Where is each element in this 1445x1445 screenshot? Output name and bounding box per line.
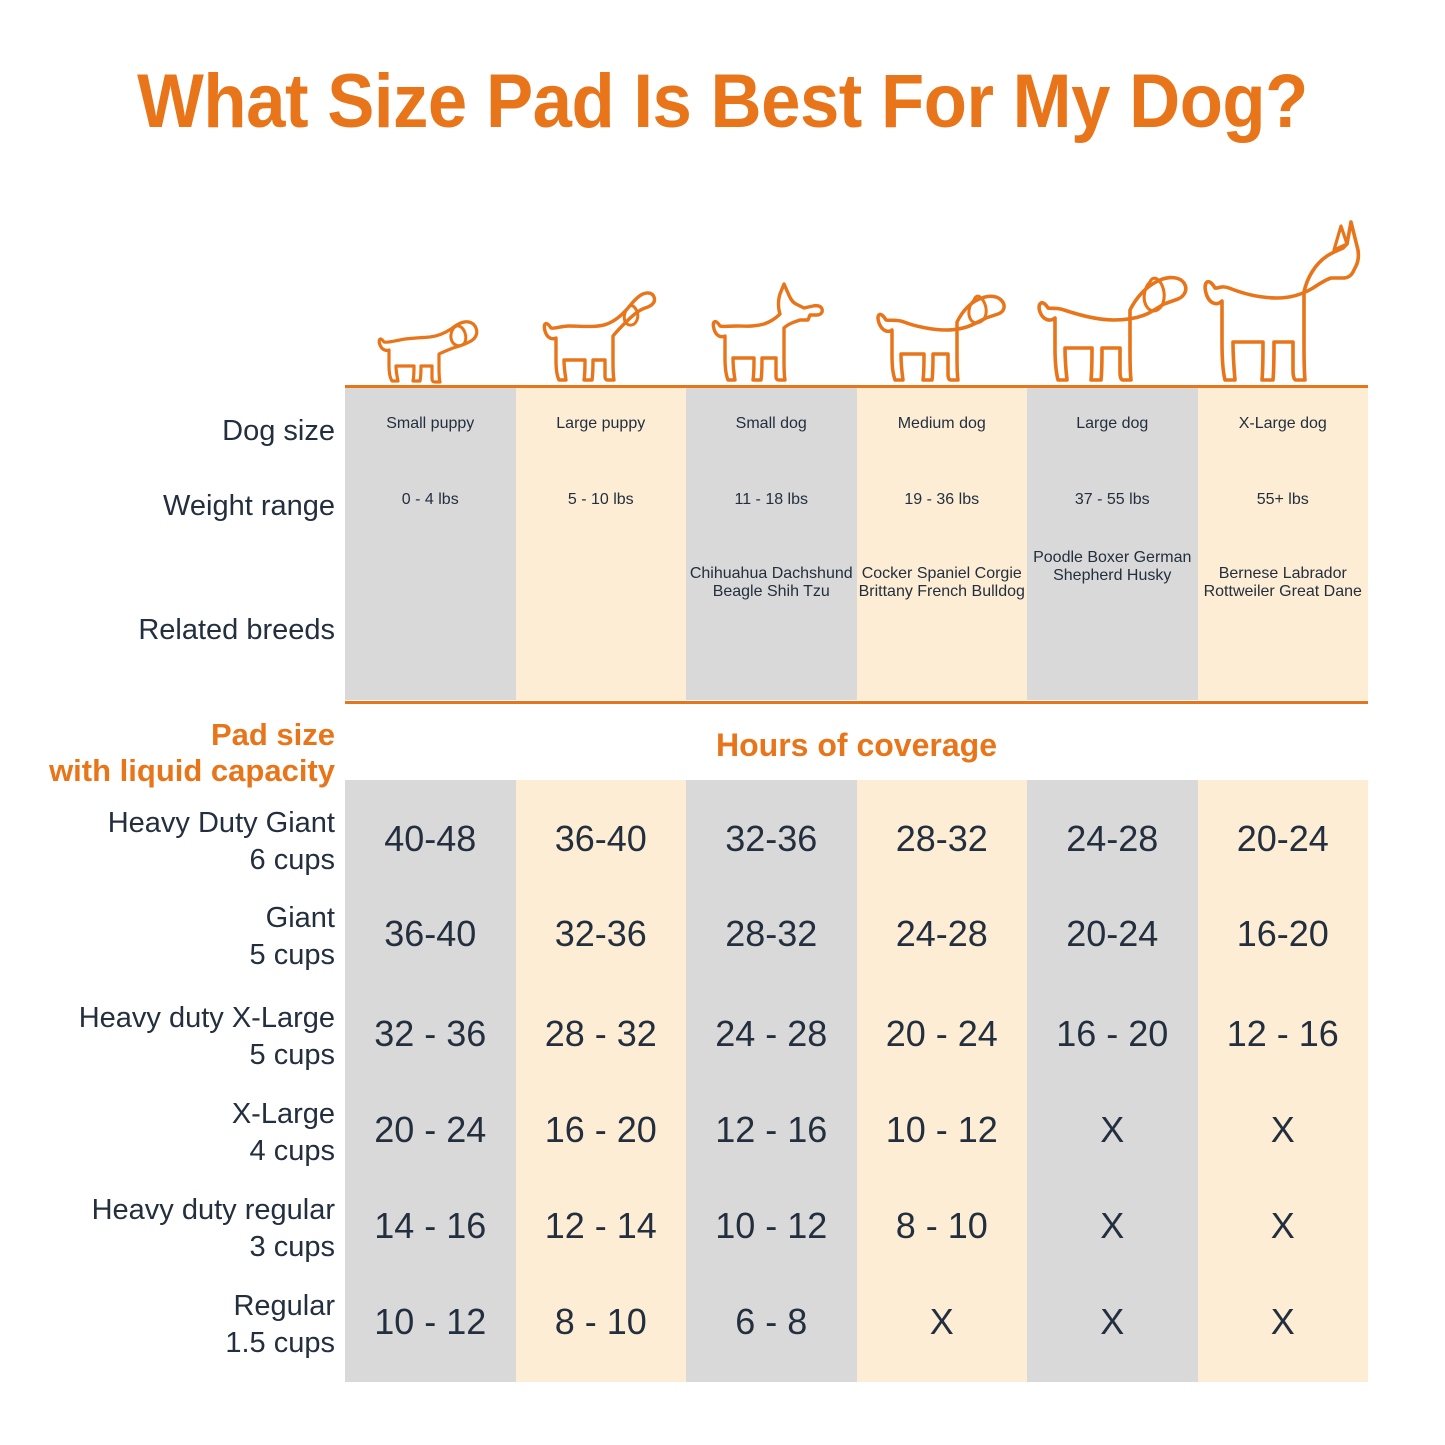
pad-cell-r6c1: 10 - 12 (345, 1301, 516, 1343)
dog-size-value-4: Medium dog (857, 415, 1028, 433)
pad-cell-r6c2: 8 - 10 (516, 1301, 687, 1343)
pad-cell-r6c4: X (857, 1301, 1028, 1343)
weight-range-value-6: 55+ lbs (1198, 491, 1369, 509)
related-breeds-value-3: Chihuahua Dachshund Beagle Shih Tzu (686, 565, 857, 601)
pad-cell-r3c3: 24 - 28 (686, 1013, 857, 1055)
row-label-pad-size: Pad size with liquid capacity (49, 717, 335, 789)
dog-icon-cell-6 (1198, 200, 1369, 386)
dog-icon-cell-2 (516, 200, 687, 386)
pad-cell-r4c6: X (1198, 1109, 1369, 1151)
row-label-related-breeds: Related breeds (138, 612, 335, 649)
pad-row-label-4: X-Large 4 cups (232, 1096, 335, 1170)
pad-row-label-3: Heavy duty X-Large 5 cups (79, 1000, 335, 1074)
pad-cell-r5c2: 12 - 14 (516, 1205, 687, 1247)
dog-size-value-1: Small puppy (345, 415, 516, 433)
pad-cell-r2c1: 36-40 (345, 913, 516, 955)
pad-cell-r5c4: 8 - 10 (857, 1205, 1028, 1247)
weight-range-value-5: 37 - 55 lbs (1027, 491, 1198, 509)
pad-cell-r3c2: 28 - 32 (516, 1013, 687, 1055)
pad-row-label-6: Regular 1.5 cups (225, 1288, 335, 1362)
pad-cell-r3c4: 20 - 24 (857, 1013, 1028, 1055)
dog-icon-cell-1 (345, 200, 516, 386)
large-puppy-icon (535, 288, 667, 386)
pad-cell-r5c6: X (1198, 1205, 1369, 1247)
page-title: What Size Pad Is Best For My Dog? (51, 58, 1395, 145)
pad-cell-r1c2: 36-40 (516, 818, 687, 860)
pad-cell-r1c5: 24-28 (1027, 818, 1198, 860)
pad-row-label-5: Heavy duty regular 3 cups (92, 1192, 335, 1266)
pad-cell-r2c4: 24-28 (857, 913, 1028, 955)
pad-row-label-2: Giant 5 cups (250, 900, 335, 974)
pad-cell-r5c3: 10 - 12 (686, 1205, 857, 1247)
small-dog-icon (704, 282, 838, 386)
pad-cell-r1c3: 32-36 (686, 818, 857, 860)
weight-range-value-2: 5 - 10 lbs (516, 491, 687, 509)
dog-silhouette-row (345, 200, 1368, 386)
pad-cell-r3c5: 16 - 20 (1027, 1013, 1198, 1055)
pad-cell-r6c3: 6 - 8 (686, 1301, 857, 1343)
infographic-page: What Size Pad Is Best For My Dog? (0, 0, 1445, 1445)
dog-icon-cell-4 (857, 200, 1028, 386)
pad-cell-r2c5: 20-24 (1027, 913, 1198, 955)
pad-cell-r4c1: 20 - 24 (345, 1109, 516, 1151)
weight-range-value-4: 19 - 36 lbs (857, 491, 1028, 509)
dog-size-value-3: Small dog (686, 415, 857, 433)
dog-size-value-6: X-Large dog (1198, 415, 1369, 433)
row-label-weight-range: Weight range (163, 488, 335, 525)
dog-icon-cell-3 (686, 200, 857, 386)
pad-cell-r1c4: 28-32 (857, 818, 1028, 860)
xlarge-dog-icon (1201, 216, 1365, 386)
pad-cell-r2c3: 28-32 (686, 913, 857, 955)
header-rule-middle (345, 701, 1368, 704)
large-dog-icon (1034, 258, 1190, 386)
dog-icon-cell-5 (1027, 200, 1198, 386)
pad-cell-r4c2: 16 - 20 (516, 1109, 687, 1151)
dog-size-value-5: Large dog (1027, 415, 1198, 433)
small-puppy-icon (370, 308, 490, 386)
weight-range-value-3: 11 - 18 lbs (686, 491, 857, 509)
pad-cell-r5c5: X (1027, 1205, 1198, 1247)
row-label-dog-size: Dog size (222, 413, 335, 450)
related-breeds-value-5: Poodle Boxer German Shepherd Husky (1027, 549, 1198, 585)
dog-size-value-2: Large puppy (516, 415, 687, 433)
pad-cell-r6c5: X (1027, 1301, 1198, 1343)
pad-cell-r1c1: 40-48 (345, 818, 516, 860)
pad-cell-r4c4: 10 - 12 (857, 1109, 1028, 1151)
pad-cell-r5c1: 14 - 16 (345, 1205, 516, 1247)
pad-cell-r3c6: 12 - 16 (1198, 1013, 1369, 1055)
medium-dog-icon (870, 274, 1014, 386)
related-breeds-value-6: Bernese Labrador Rottweiler Great Dane (1198, 565, 1369, 601)
related-breeds-value-4: Cocker Spaniel Corgie Brittany French Bu… (857, 565, 1028, 601)
weight-range-value-1: 0 - 4 lbs (345, 491, 516, 509)
pad-row-label-1: Heavy Duty Giant 6 cups (108, 805, 335, 879)
pad-cell-r6c6: X (1198, 1301, 1369, 1343)
pad-cell-r3c1: 32 - 36 (345, 1013, 516, 1055)
pad-cell-r2c6: 16-20 (1198, 913, 1369, 955)
pad-cell-r2c2: 32-36 (516, 913, 687, 955)
pad-cell-r4c5: X (1027, 1109, 1198, 1151)
pad-cell-r4c3: 12 - 16 (686, 1109, 857, 1151)
pad-cell-r1c6: 20-24 (1198, 818, 1369, 860)
hours-of-coverage-header: Hours of coverage (345, 727, 1368, 764)
